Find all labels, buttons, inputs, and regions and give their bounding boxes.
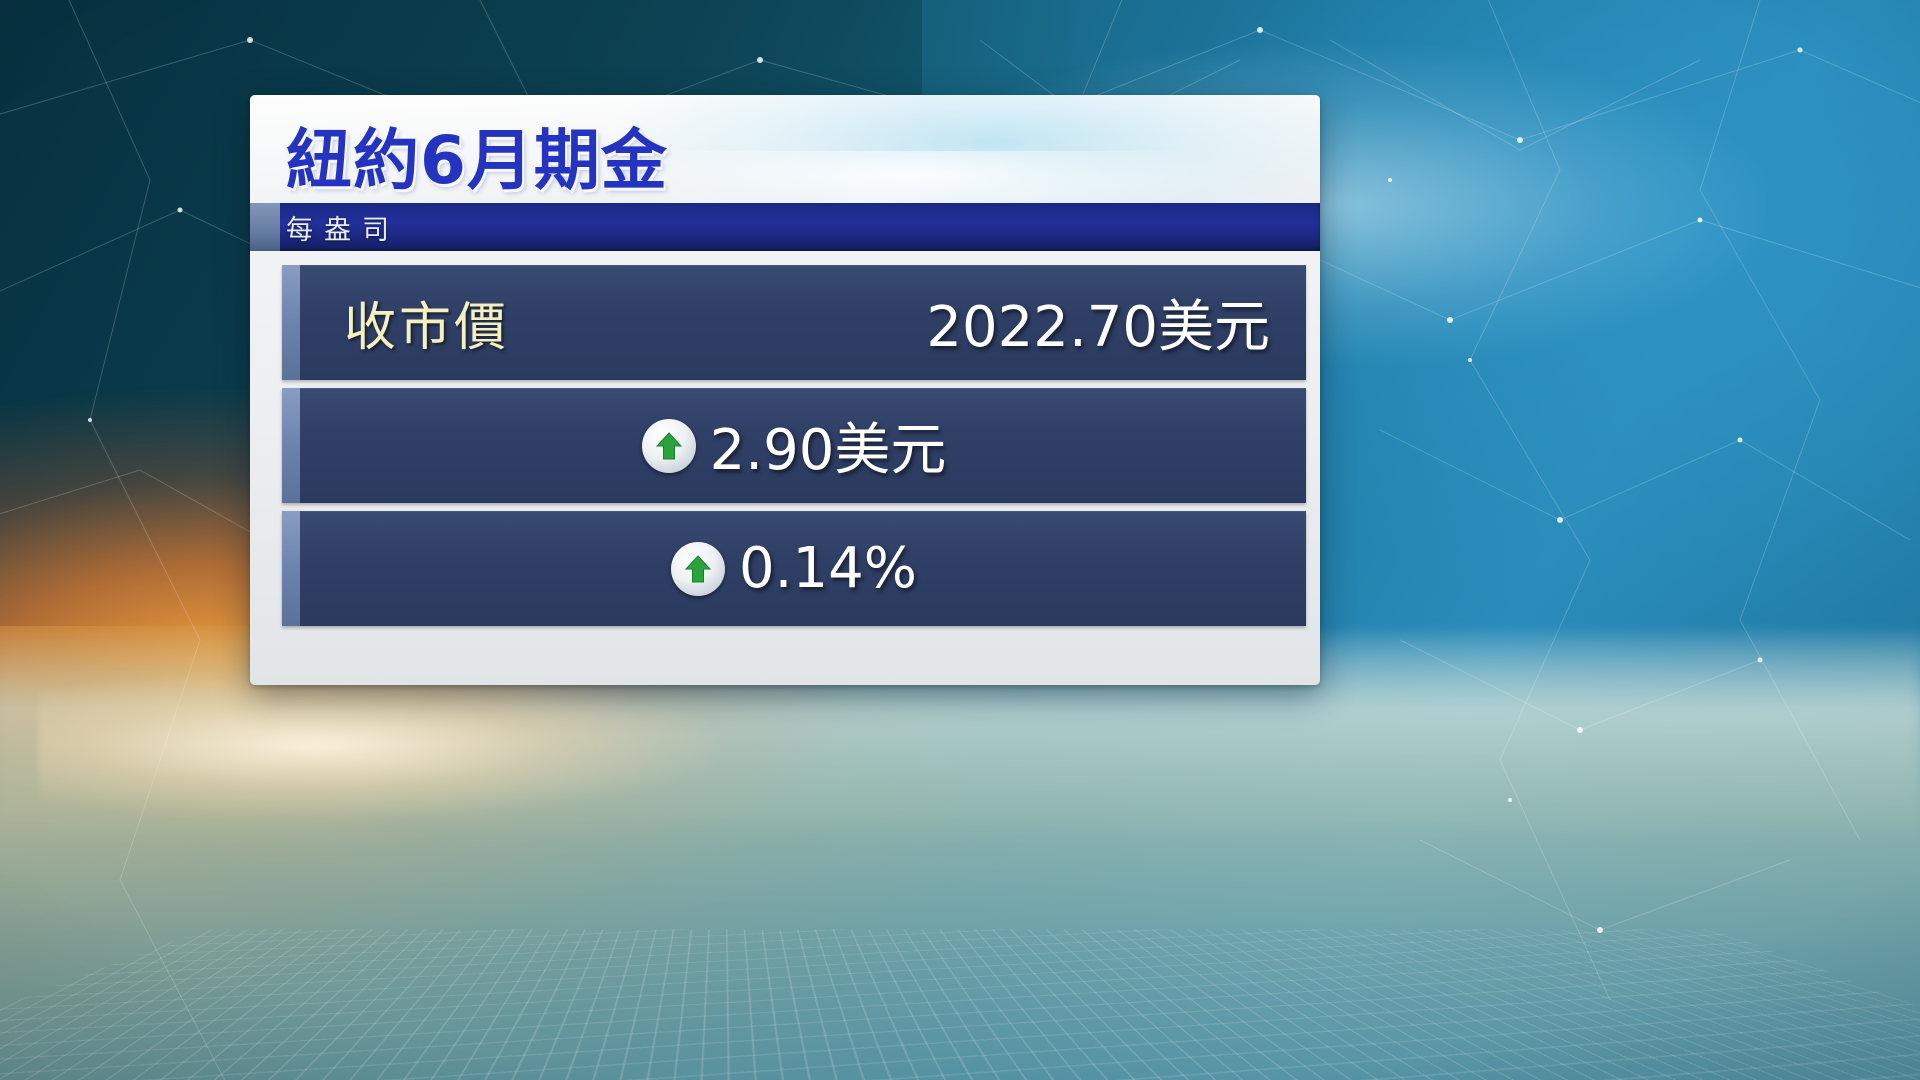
row-accent-bar xyxy=(282,388,300,503)
up-arrow-icon xyxy=(671,542,725,596)
row-value-change-percent: 0.14% xyxy=(671,536,917,601)
table-row: 2.90美元 xyxy=(282,388,1306,503)
row-accent-bar xyxy=(282,511,300,626)
up-arrow-icon xyxy=(642,419,696,473)
row-label-closing-price: 收市價 xyxy=(344,285,509,360)
row-value-closing-price: 2022.70美元 xyxy=(926,282,1270,363)
row-accent-bar xyxy=(282,265,300,380)
table-row: 0.14% xyxy=(282,511,1306,626)
gold-futures-card: 紐約6月期金 每盎司 收市價 2022.70美元 2.90美元 xyxy=(250,95,1320,685)
page-title: 紐約6月期金 xyxy=(286,107,668,203)
row-value-change-amount: 2.90美元 xyxy=(642,405,947,486)
subtitle-unit-label: 每盎司 xyxy=(286,208,400,247)
subtitle-tab-marker xyxy=(250,203,280,251)
subtitle-bar: 每盎司 xyxy=(250,203,1320,251)
change-percent-text: 0.14% xyxy=(739,536,917,601)
card-header: 紐約6月期金 xyxy=(250,95,1320,203)
card-body: 收市價 2022.70美元 2.90美元 xyxy=(250,251,1320,644)
table-row: 收市價 2022.70美元 xyxy=(282,265,1306,380)
change-amount-text: 2.90美元 xyxy=(710,405,947,486)
header-highlight xyxy=(592,151,1234,203)
